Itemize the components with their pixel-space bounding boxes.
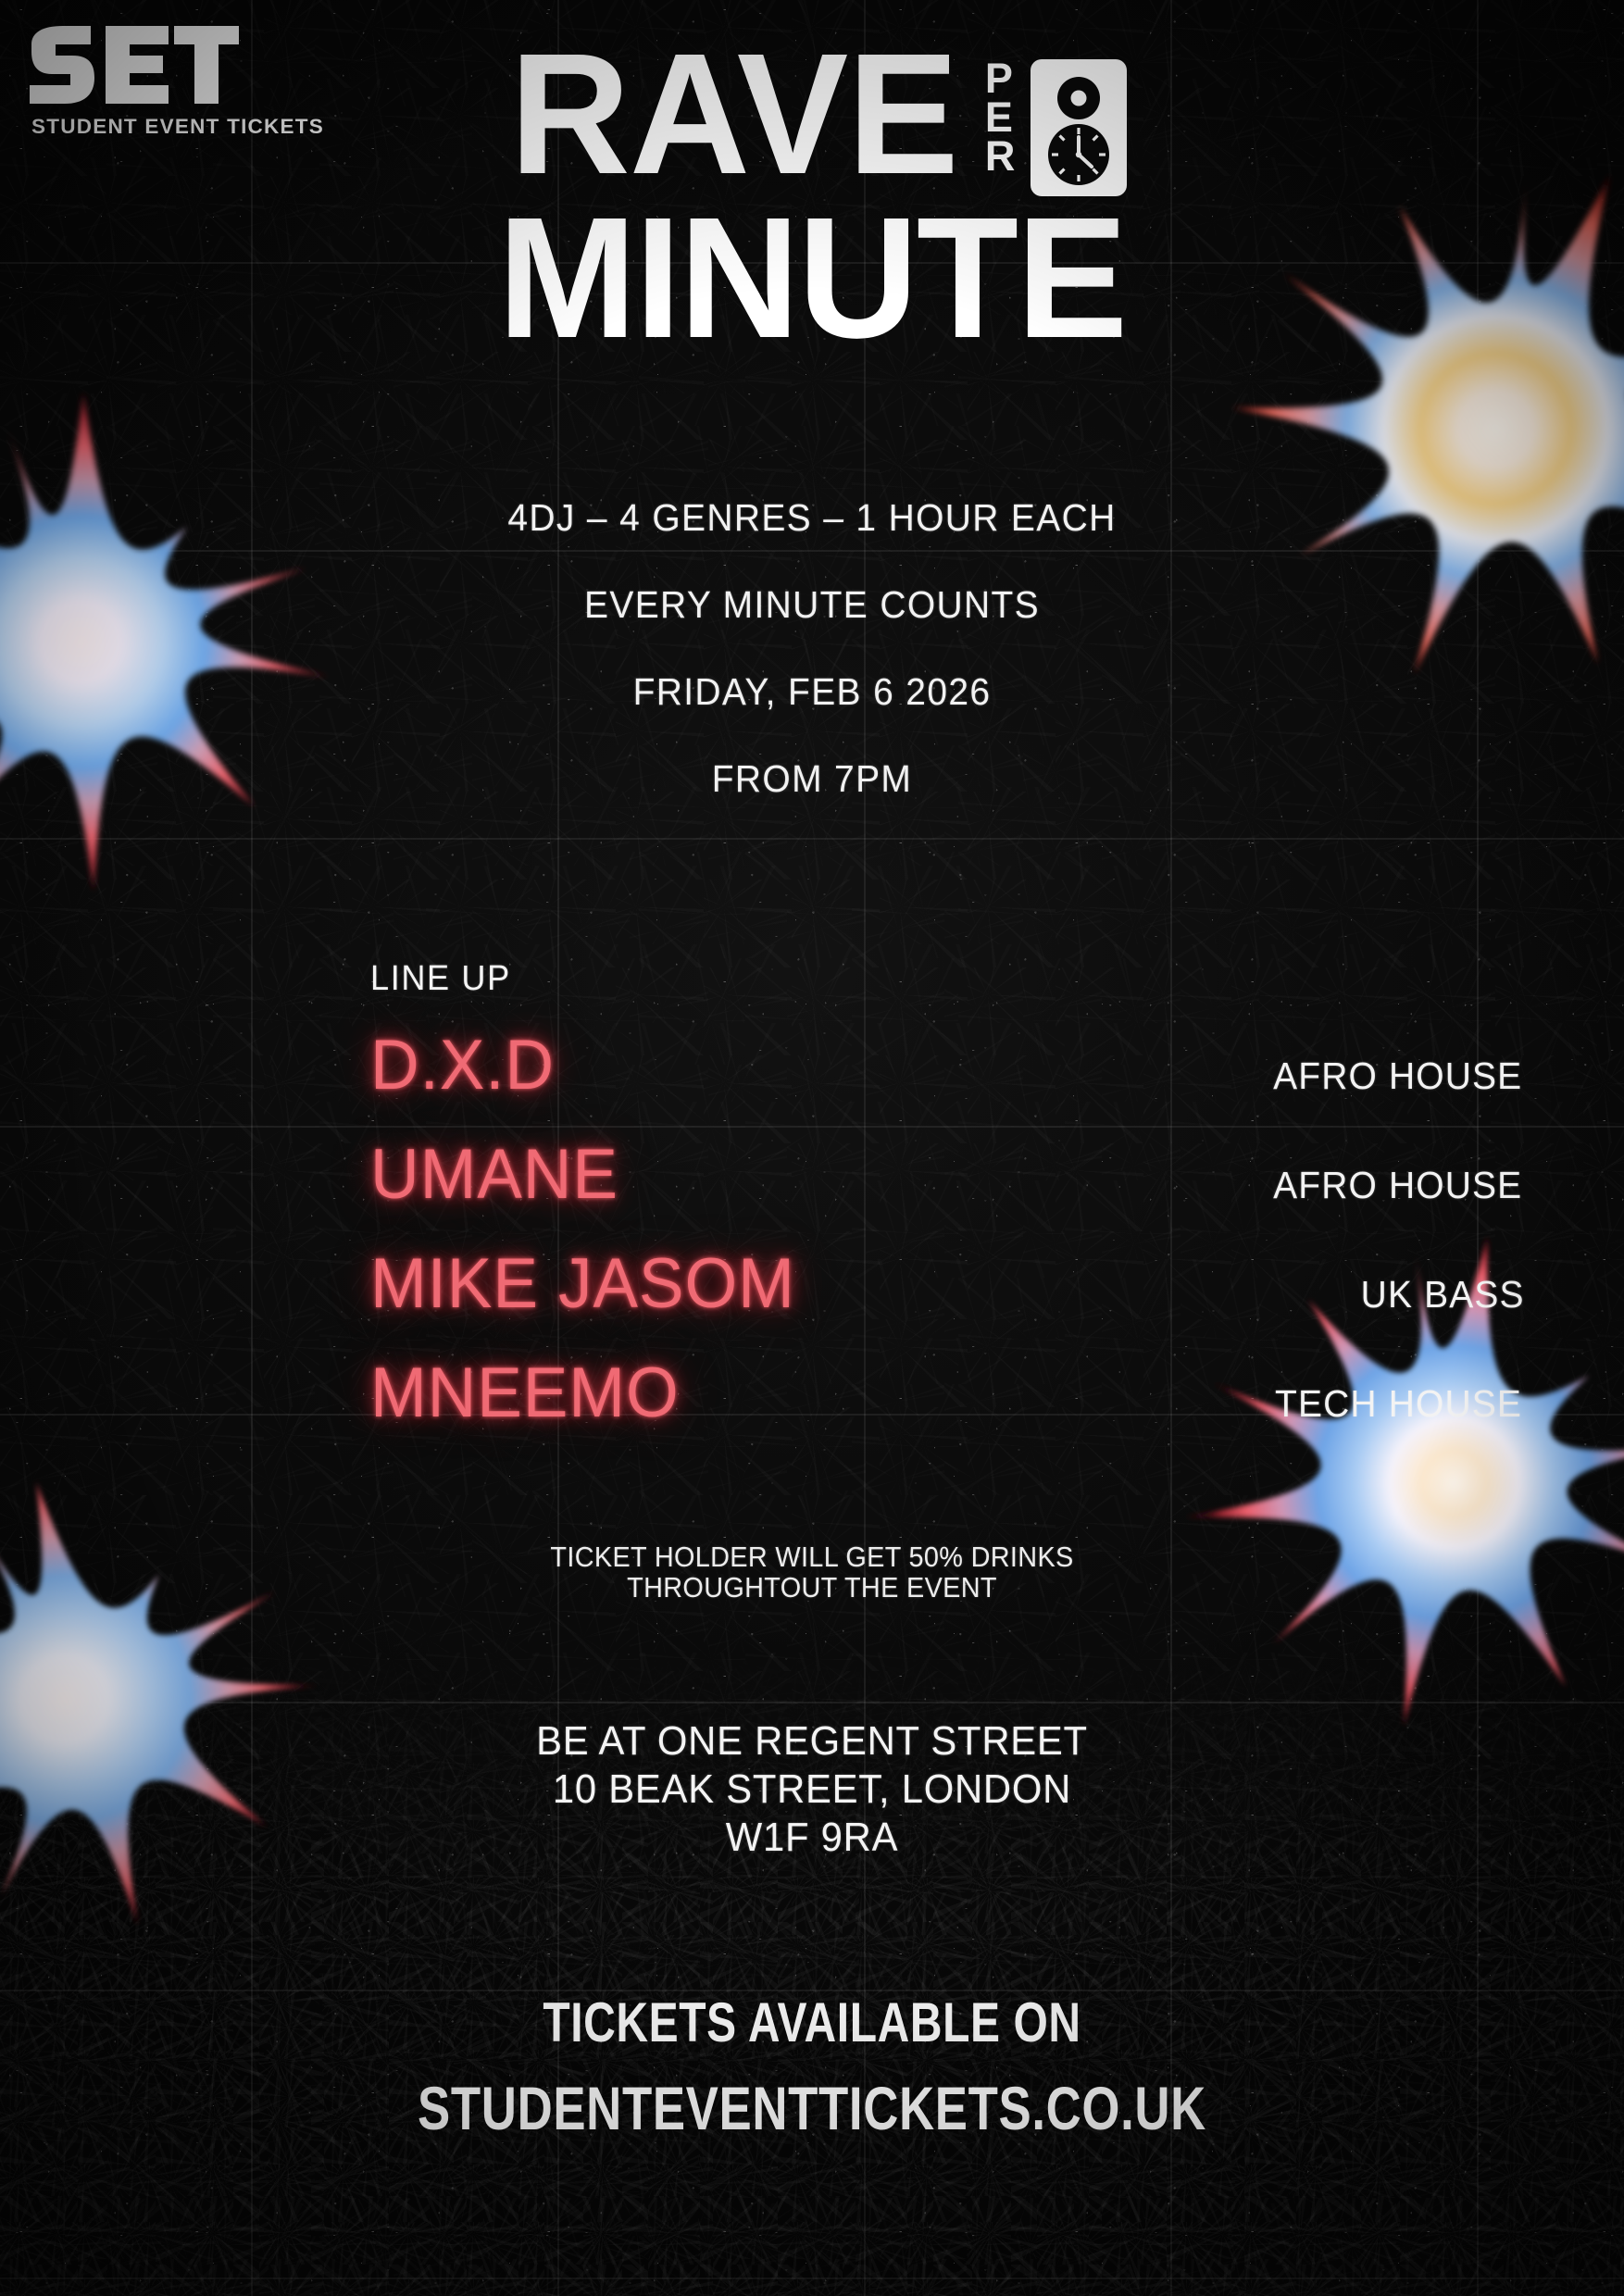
drinks-promo-block: TICKET HOLDER WILL GET 50% DRINKS THROUG… — [0, 1541, 1624, 1603]
info-line-date: FRIDAY, FEB 6 2026 — [41, 670, 1583, 714]
lineup-label: LINE UP — [370, 959, 1561, 999]
promo-line-1: TICKET HOLDER WILL GET 50% DRINKS — [56, 1541, 1567, 1572]
venue-postcode: W1F 9RA — [41, 1814, 1583, 1862]
dj-name: UMANE — [370, 1134, 618, 1215]
event-info-block: 4DJ – 4 GENRES – 1 HOUR EACH EVERY MINUT… — [0, 496, 1624, 801]
headline-rave: RAVE — [509, 46, 957, 184]
headline-block: RAVE P E R — [0, 46, 1624, 348]
info-line-genres: 4DJ – 4 GENRES – 1 HOUR EACH — [41, 496, 1583, 540]
dj-genre: AFRO HOUSE — [1273, 1054, 1522, 1098]
lineup-row: MNEEMO TECH HOUSE — [370, 1353, 1624, 1462]
venue-name: BE AT ONE REGENT STREET — [41, 1717, 1583, 1766]
footer-block: TICKETS AVAILABLE ON STUDENTEVENTTICKETS… — [0, 1990, 1624, 2143]
dj-name: D.X.D — [370, 1025, 555, 1105]
lineup-row: UMANE AFRO HOUSE — [370, 1134, 1624, 1243]
dj-name: MIKE JASOM — [370, 1243, 795, 1324]
per-letter-e: E — [985, 98, 1016, 137]
dj-genre: UK BASS — [1360, 1273, 1524, 1316]
dj-genre: TECH HOUSE — [1275, 1382, 1522, 1426]
headline-row-2: MINUTE — [0, 201, 1624, 348]
headline-row-1: RAVE P E R — [0, 46, 1624, 201]
per-letter-p: P — [985, 59, 1016, 98]
per-letter-r: R — [985, 137, 1016, 176]
headline-minute: MINUTE — [498, 210, 1127, 348]
speaker-clock-icon — [1031, 59, 1127, 201]
lineup-block: LINE UP D.X.D AFRO HOUSE UMANE AFRO HOUS… — [370, 959, 1624, 1462]
per-stack: P E R — [985, 59, 1016, 176]
lineup-row: MIKE JASOM UK BASS — [370, 1243, 1624, 1353]
venue-street: 10 BEAK STREET, LONDON — [41, 1766, 1583, 1814]
lineup-row: D.X.D AFRO HOUSE — [370, 1025, 1624, 1134]
dj-genre: AFRO HOUSE — [1273, 1164, 1522, 1207]
info-line-tagline: EVERY MINUTE COUNTS — [41, 583, 1583, 627]
tickets-website-url[interactable]: STUDENTEVENTTICKETS.CO.UK — [162, 2073, 1461, 2143]
tickets-available-label: TICKETS AVAILABLE ON — [162, 1990, 1461, 2054]
dj-name: MNEEMO — [370, 1353, 680, 1433]
promo-line-2: THROUGHTOUT THE EVENT — [56, 1572, 1567, 1603]
event-poster: STUDENT EVENT TICKETS RAVE P E R — [0, 0, 1624, 2296]
info-line-time: FROM 7PM — [41, 757, 1583, 801]
venue-block: BE AT ONE REGENT STREET 10 BEAK STREET, … — [0, 1717, 1624, 1862]
